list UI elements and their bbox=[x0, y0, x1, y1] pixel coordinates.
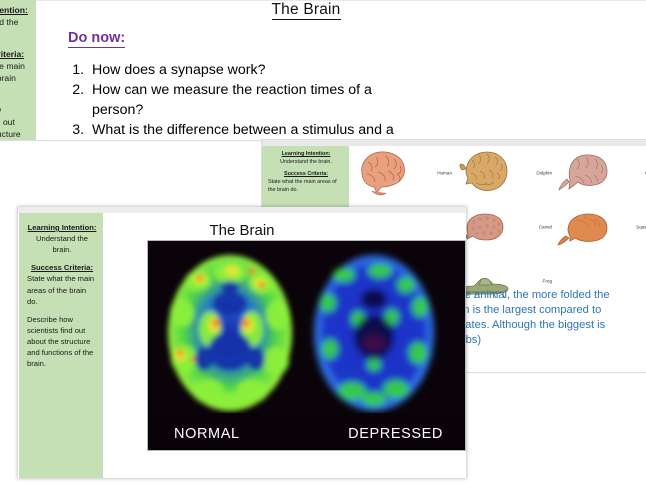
learning-intention-box: Learning Intention: Understand the brain… bbox=[0, 0, 36, 140]
pet-scan-label-normal: NORMAL bbox=[174, 426, 240, 442]
pet-scan-graphic bbox=[148, 241, 465, 450]
animal-label: Human bbox=[437, 170, 452, 175]
animal-brain-cat: Cat bbox=[554, 146, 646, 199]
learning-intention-heading: Learning Intention: bbox=[27, 222, 97, 233]
animal-label: Frog bbox=[543, 278, 552, 283]
slide1-title-text: The Brain bbox=[272, 1, 341, 20]
pet-scan-image: NORMAL DEPRESSED bbox=[147, 240, 466, 451]
slide3-title-text: The Brain bbox=[209, 222, 274, 241]
animal-brain-dolphin: Dolphin bbox=[454, 146, 554, 199]
slide1-title: The Brain bbox=[0, 1, 646, 19]
learning-intention-box: Learning Intention: Understand the brain… bbox=[19, 213, 103, 478]
do-now-question-list: How does a synapse work? How can we meas… bbox=[62, 60, 418, 140]
learning-intention-box: Learning Intention: Understand the brain… bbox=[262, 146, 349, 216]
slide-thumbnail-stage: The Brain Do now: How does a synapse wor… bbox=[0, 0, 646, 485]
success-criteria-text-1: State what the main areas of the brain d… bbox=[268, 179, 344, 195]
success-criteria-text-1: State what the main areas of the brain d… bbox=[0, 60, 29, 97]
squirrel-brain-icon bbox=[554, 200, 616, 253]
list-item: How does a synapse work? bbox=[88, 60, 418, 80]
human-brain-icon bbox=[354, 146, 416, 199]
pet-scan-label-depressed: DEPRESSED bbox=[348, 426, 443, 442]
animal-label: Dolphin bbox=[536, 170, 552, 175]
success-criteria-text-1: State what the main areas of the brain d… bbox=[27, 273, 97, 307]
animal-brain-squirrel: Squirrel bbox=[554, 200, 646, 253]
cat-brain-icon bbox=[554, 146, 616, 199]
animal-brain-camel: Camel bbox=[454, 200, 554, 253]
spacer bbox=[0, 41, 29, 48]
learning-intention-text: Understand the brain. bbox=[27, 233, 97, 255]
slide-thumbnail-1[interactable]: The Brain Do now: How does a synapse wor… bbox=[0, 0, 646, 140]
success-criteria-heading: Success Criteria: bbox=[27, 262, 97, 273]
animal-label: Squirrel bbox=[636, 224, 646, 229]
success-criteria-heading: Success Criteria: bbox=[0, 48, 29, 60]
spacer bbox=[0, 97, 29, 104]
do-now-heading: Do now: bbox=[68, 30, 125, 46]
animal-label: Camel bbox=[539, 224, 552, 229]
learning-intention-text: Understand the brain. bbox=[0, 16, 29, 40]
list-item: How can we measure the reaction times of… bbox=[88, 80, 418, 120]
learning-intention-text: Understand the brain. bbox=[268, 159, 344, 167]
do-now-heading-text: Do now: bbox=[68, 30, 125, 48]
success-criteria-heading: Success Criteria: bbox=[268, 171, 344, 179]
animal-brain-human: Human bbox=[354, 146, 454, 199]
success-criteria-text-2: Describe how scientists find out about t… bbox=[0, 104, 29, 140]
success-criteria-text-2: Describe how scientists find out about t… bbox=[27, 314, 97, 370]
slide-thumbnail-3[interactable]: The Brain Learning Intention: Understand… bbox=[18, 207, 466, 478]
dolphin-brain-icon bbox=[454, 146, 516, 199]
list-item: What is the difference between a stimulu… bbox=[88, 120, 418, 140]
learning-intention-heading: Learning Intention: bbox=[0, 4, 29, 16]
learning-intention-heading: Learning Intention: bbox=[268, 151, 344, 159]
